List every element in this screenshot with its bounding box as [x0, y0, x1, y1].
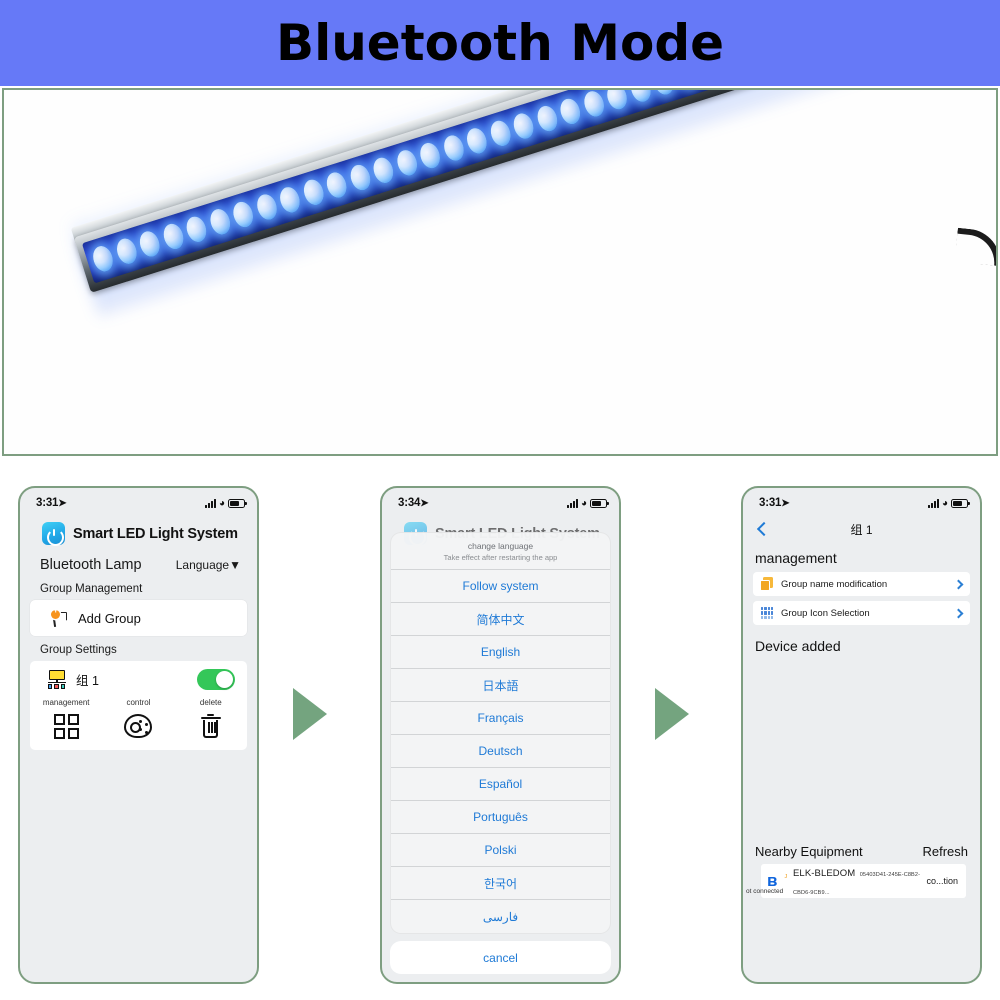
chevron-right-icon — [954, 579, 964, 589]
language-option[interactable]: Polski — [391, 834, 610, 867]
language-option[interactable]: Deutsch — [391, 735, 610, 768]
row-label: Group name modification — [781, 579, 887, 590]
group-presentation-icon — [46, 670, 68, 690]
battery-icon — [228, 499, 245, 508]
nearby-equipment-header: Nearby Equipment Refresh — [743, 838, 980, 864]
app-title: Smart LED Light System — [73, 526, 238, 542]
app-header: Smart LED Light System — [20, 514, 257, 551]
action-control-label: control — [102, 698, 174, 707]
signal-icon — [928, 499, 939, 508]
led-lens — [324, 170, 350, 201]
flag-plus-icon — [50, 609, 69, 628]
led-lens — [581, 89, 607, 120]
refresh-button[interactable]: Refresh — [922, 844, 968, 859]
led-lens — [534, 104, 560, 135]
add-group-card[interactable]: Add Group — [30, 600, 247, 636]
led-lens — [207, 207, 233, 238]
action-delete-label: delete — [175, 698, 247, 707]
row-label: Group Icon Selection — [781, 608, 870, 619]
language-option[interactable]: Follow system — [391, 570, 610, 603]
group-management-label: Group Management — [20, 575, 257, 600]
sheet-header: change language Take effect after restar… — [391, 533, 610, 570]
status-icons: ◕ — [567, 499, 607, 508]
status-time: 3:31➤ — [759, 497, 789, 509]
grid-icon — [30, 712, 102, 740]
status-time: 3:34➤ — [398, 497, 428, 509]
language-options-group: change language Take effect after restar… — [390, 532, 611, 934]
led-lens — [464, 126, 490, 157]
group-power-toggle[interactable] — [197, 669, 235, 690]
language-action-sheet: change language Take effect after restar… — [390, 532, 611, 974]
led-lens — [511, 111, 537, 142]
status-time-text: 3:31 — [759, 497, 781, 509]
led-lens — [183, 214, 209, 245]
led-lens — [441, 133, 467, 164]
led-lens — [394, 148, 420, 179]
action-control[interactable]: control — [102, 698, 174, 740]
led-lens — [90, 244, 116, 275]
status-time: 3:31➤ — [36, 497, 66, 509]
nav-bar: 组 1 — [743, 514, 980, 542]
led-lens — [230, 199, 256, 230]
language-option[interactable]: 简体中文 — [391, 603, 610, 636]
location-arrow-icon: ➤ — [58, 498, 66, 509]
group-actions: management control delete — [30, 698, 247, 740]
sheet-subtitle: Take effect after restarting the app — [401, 553, 600, 562]
led-lens — [557, 96, 583, 127]
nav-title: 组 1 — [743, 521, 980, 538]
status-bar: 3:34➤ ◕ — [382, 488, 619, 514]
lamp-row: Bluetooth Lamp Language▼ — [20, 551, 257, 575]
palette-icon — [102, 712, 174, 740]
wifi-icon: ◕ — [581, 499, 587, 508]
signal-icon — [205, 499, 216, 508]
language-option[interactable]: Português — [391, 801, 610, 834]
status-bar: 3:31➤ ◕ — [743, 488, 980, 514]
page-banner: Bluetooth Mode — [0, 0, 1000, 86]
chevron-right-icon — [954, 608, 964, 618]
language-option[interactable]: فارسی — [391, 900, 610, 933]
status-time-text: 3:31 — [36, 497, 58, 509]
device-texts: ELK-BLEDOM 05403D41-245E-C8B2-CBD6-9CB9.… — [793, 863, 926, 899]
cancel-button[interactable]: cancel — [390, 941, 611, 974]
row-group-icon-selection[interactable]: Group Icon Selection — [753, 601, 970, 625]
lamp-name-label: Bluetooth Lamp — [40, 557, 142, 573]
product-photo — [4, 90, 996, 454]
flow-arrow-2 — [655, 688, 689, 740]
device-list-item[interactable]: ʙᴶ ELK-BLEDOM 05403D41-245E-C8B2-CBD6-9C… — [761, 864, 966, 898]
trash-icon — [175, 712, 247, 740]
language-option[interactable]: Español — [391, 768, 610, 801]
group-name: 组 1 — [76, 670, 99, 689]
status-icons: ◕ — [205, 499, 245, 508]
app-screenshots-row: 3:31➤ ◕ Smart LED Light System Bluetooth… — [0, 470, 1000, 1000]
management-section-label: management — [743, 542, 980, 572]
signal-icon — [567, 499, 578, 508]
action-management-label: management — [30, 698, 102, 707]
led-light-bar — [66, 88, 941, 327]
page-title: Bluetooth Mode — [276, 14, 724, 72]
phone-screenshot-language: 3:34➤ ◕ Smart LED Light System change la… — [380, 486, 621, 984]
led-lens — [137, 229, 163, 260]
led-lens — [604, 88, 630, 112]
led-lens — [417, 140, 443, 171]
language-option[interactable]: Français — [391, 702, 610, 735]
power-cable — [954, 228, 998, 267]
language-option[interactable]: 한국어 — [391, 867, 610, 900]
language-dropdown-button[interactable]: Language▼ — [176, 558, 241, 572]
sheet-title: change language — [401, 541, 600, 551]
dot-matrix-icon — [760, 606, 774, 620]
row-group-name-modification[interactable]: Group name modification — [753, 572, 970, 596]
battery-icon — [951, 499, 968, 508]
location-arrow-icon: ➤ — [781, 498, 789, 509]
status-icons: ◕ — [928, 499, 968, 508]
led-lens — [277, 185, 303, 216]
led-lens — [300, 177, 326, 208]
battery-icon — [590, 499, 607, 508]
led-lens — [674, 88, 700, 90]
device-added-label: Device added — [743, 630, 980, 660]
led-power-app-icon — [42, 522, 65, 545]
group-settings-label: Group Settings — [20, 636, 257, 661]
status-bar: 3:31➤ ◕ — [20, 488, 257, 514]
device-connect-action[interactable]: co...tion — [926, 876, 958, 886]
led-lens — [651, 88, 677, 97]
led-lens — [113, 236, 139, 267]
led-lens — [370, 155, 396, 186]
group-card: 组 1 management control delete — [30, 661, 247, 750]
led-lens — [347, 162, 373, 193]
phone-screenshot-home: 3:31➤ ◕ Smart LED Light System Bluetooth… — [18, 486, 259, 984]
device-name: ELK-BLEDOM — [793, 868, 855, 879]
language-option[interactable]: 日本語 — [391, 669, 610, 702]
action-delete[interactable]: delete — [175, 698, 247, 740]
language-list: Follow system简体中文English日本語FrançaisDeuts… — [391, 570, 610, 933]
status-time-text: 3:34 — [398, 497, 420, 509]
device-connection-status: ot connected — [746, 888, 783, 895]
nearby-equipment-title: Nearby Equipment — [755, 844, 863, 859]
wifi-icon: ◕ — [219, 499, 225, 508]
language-option[interactable]: English — [391, 636, 610, 669]
led-lens — [160, 221, 186, 252]
group-header-row: 组 1 — [30, 667, 247, 690]
action-management[interactable]: management — [30, 698, 102, 740]
phone-screenshot-group-detail: 3:31➤ ◕ 组 1 management Group name modifi… — [741, 486, 982, 984]
add-group-row[interactable]: Add Group — [30, 600, 247, 636]
add-group-label: Add Group — [78, 611, 141, 626]
product-image-panel — [2, 88, 998, 456]
wifi-icon: ◕ — [942, 499, 948, 508]
led-lens — [487, 118, 513, 149]
flow-arrow-1 — [293, 688, 327, 740]
led-lens — [254, 192, 280, 223]
led-lens — [627, 88, 653, 105]
documents-icon — [760, 577, 774, 591]
location-arrow-icon: ➤ — [420, 498, 428, 509]
